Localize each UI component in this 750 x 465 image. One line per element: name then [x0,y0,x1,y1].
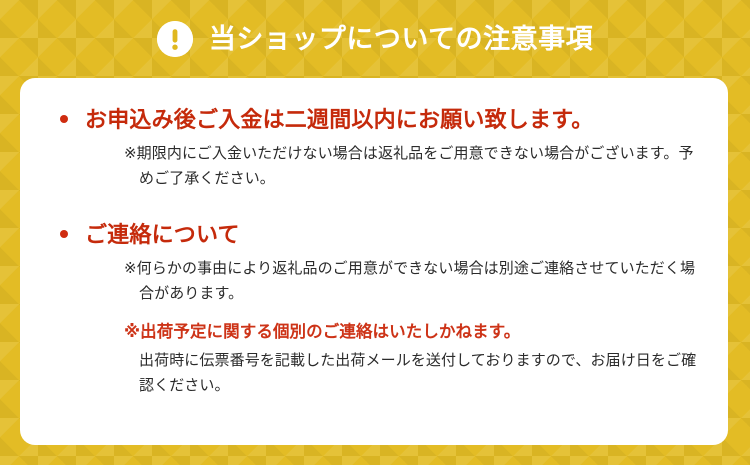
list-item: お申込み後ご入金は二週間以内にお願い致します。 ※期限内にご入金いただけない場合… [42,104,706,191]
list-item: ご連絡について ※何らかの事由により返礼品のご用意ができない場合は別途ご連絡させ… [42,219,706,398]
bullet-dot-icon [60,115,68,123]
notice-notes: ※何らかの事由により返礼品のご用意ができない場合は別途ご連絡させていただく場合が… [42,256,706,398]
notice-note: ※何らかの事由により返礼品のご用意ができない場合は別途ご連絡させていただく場合が… [124,256,702,306]
bullet-dot-icon [60,230,68,238]
exclamation-circle-icon [157,21,193,57]
notice-note-detail: 出荷時に伝票番号を記載した出荷メールを送付しておりますので、お届け日をご確認くだ… [124,348,702,398]
notice-heading: ご連絡について [85,219,240,251]
notice-heading: お申込み後ご入金は二週間以内にお願い致します。 [85,104,593,136]
notice-notes: ※期限内にご入金いただけない場合は返礼品をご用意できない場合がございます。予めご… [42,141,706,191]
notice-note: ※期限内にご入金いただけない場合は返礼品をご用意できない場合がございます。予めご… [124,141,702,191]
notice-heading-row: お申込み後ご入金は二週間以内にお願い致します。 [42,104,706,136]
section-spacer [42,197,706,219]
notice-list: お申込み後ご入金は二週間以内にお願い致します。 ※期限内にご入金いただけない場合… [42,104,706,399]
shop-notice-banner: 当ショップについての注意事項 お申込み後ご入金は二週間以内にお願い致します。 ※… [0,0,750,465]
notice-card: お申込み後ご入金は二週間以内にお願い致します。 ※期限内にご入金いただけない場合… [20,78,728,445]
notice-heading-row: ご連絡について [42,219,706,251]
banner-header: 当ショップについての注意事項 [0,0,750,78]
notice-note-highlighted: ※出荷予定に関する個別のご連絡はいたしかねます。 [124,319,702,347]
page-title: 当ショップについての注意事項 [209,26,593,53]
